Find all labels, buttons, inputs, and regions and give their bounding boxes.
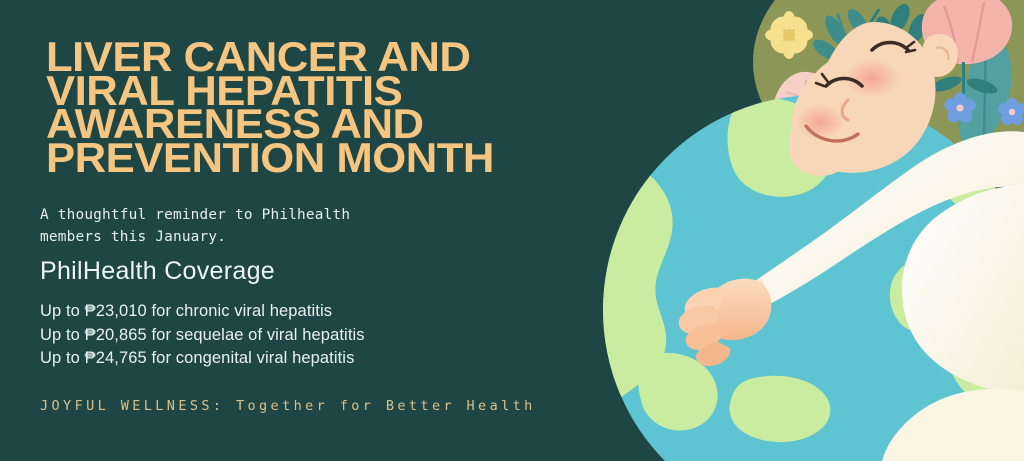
coverage-list: Up to ₱23,010 for chronic viral hepatiti… <box>40 300 490 371</box>
list-item: Up to ₱24,765 for congenital viral hepat… <box>40 347 490 371</box>
section-title-philhealth-coverage: PhilHealth Coverage <box>40 256 275 286</box>
footer-tagline: JOYFUL WELLNESS: Together for Better Hea… <box>40 398 536 414</box>
subtitle-text: A thoughtful reminder to Philhealth memb… <box>40 204 460 248</box>
awareness-banner: Liver Cancer and Viral Hepatitis Awarene… <box>0 0 1024 461</box>
page-title: Liver Cancer and Viral Hepatitis Awarene… <box>46 40 680 174</box>
list-item: Up to ₱23,010 for chronic viral hepatiti… <box>40 300 490 324</box>
text-content: Liver Cancer and Viral Hepatitis Awarene… <box>0 0 660 461</box>
list-item: Up to ₱20,865 for sequelae of viral hepa… <box>40 324 490 348</box>
